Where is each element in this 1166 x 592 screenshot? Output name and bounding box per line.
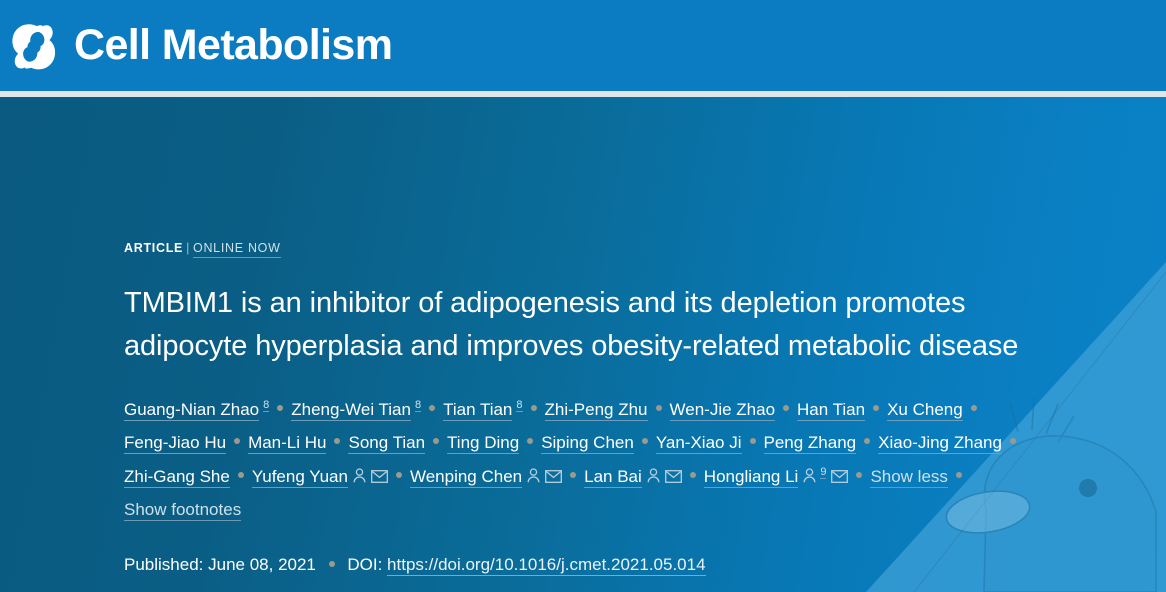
doi-label: DOI:	[347, 555, 382, 574]
bullet-separator	[783, 405, 789, 411]
article-header-content: ARTICLE|ONLINE NOW TMBIM1 is an inhibito…	[124, 242, 1084, 576]
author-link[interactable]: Zheng-Wei Tian	[291, 400, 411, 421]
envelope-icon[interactable]	[831, 470, 848, 483]
bullet-separator	[238, 472, 244, 478]
bullet-separator	[642, 438, 648, 444]
published-date: June 08, 2021	[208, 555, 316, 574]
bullet-separator	[429, 405, 435, 411]
publication-line: Published: June 08, 2021 DOI: https://do…	[124, 554, 1084, 576]
article-hero-page: Cell Metabolism	[0, 0, 1166, 592]
bullet-separator	[277, 405, 283, 411]
author-affiliation-marker[interactable]: 8	[415, 399, 421, 412]
author-link[interactable]: Tian Tian	[443, 400, 512, 421]
envelope-icon[interactable]	[545, 470, 562, 483]
author-link[interactable]: Yan-Xiao Ji	[656, 433, 742, 454]
bullet-separator	[956, 472, 962, 478]
person-icon[interactable]	[353, 468, 366, 483]
bullet-separator	[750, 438, 756, 444]
author-link[interactable]: Han Tian	[797, 400, 865, 421]
person-icon[interactable]	[803, 468, 816, 483]
journal-title[interactable]: Cell Metabolism	[74, 24, 392, 67]
author-link[interactable]: Xiao-Jing Zhang	[878, 433, 1002, 454]
bullet-separator	[873, 405, 879, 411]
bullet-separator	[234, 438, 240, 444]
author-link[interactable]: Zhi-Peng Zhu	[545, 400, 648, 421]
bullet-separator	[656, 405, 662, 411]
person-icon[interactable]	[647, 468, 660, 483]
author-link[interactable]: Feng-Jiao Hu	[124, 433, 226, 454]
journal-masthead: Cell Metabolism	[0, 0, 1166, 91]
author-link[interactable]: Zhi-Gang She	[124, 467, 230, 488]
author-link[interactable]: Peng Zhang	[764, 433, 857, 454]
envelope-icon[interactable]	[371, 470, 388, 483]
author-link[interactable]: Lan Bai	[584, 467, 642, 488]
kicker: ARTICLE|ONLINE NOW	[124, 242, 1084, 255]
show-less-link[interactable]: Show less	[870, 467, 947, 488]
kicker-separator: |	[186, 241, 190, 255]
author-link[interactable]: Wen-Jie Zhao	[670, 400, 776, 421]
author-link[interactable]: Siping Chen	[541, 433, 634, 454]
bullet-separator	[856, 472, 862, 478]
author-link[interactable]: Song Tian	[348, 433, 425, 454]
kicker-status-link[interactable]: ONLINE NOW	[193, 241, 281, 258]
author-link[interactable]: Hongliang Li	[704, 467, 799, 488]
person-icon[interactable]	[527, 468, 540, 483]
cell-press-infinity-logo-icon[interactable]	[8, 21, 60, 73]
bullet-separator	[396, 472, 402, 478]
hero-banner: ARTICLE|ONLINE NOW TMBIM1 is an inhibito…	[0, 97, 1166, 592]
author-affiliation-marker[interactable]: 9	[820, 466, 826, 479]
published-label: Published:	[124, 555, 203, 574]
author-link[interactable]: Man-Li Hu	[248, 433, 326, 454]
bullet-separator	[570, 472, 576, 478]
show-footnotes-link[interactable]: Show footnotes	[124, 500, 241, 521]
bullet-separator	[690, 472, 696, 478]
envelope-icon[interactable]	[665, 470, 682, 483]
author-affiliation-marker[interactable]: 8	[263, 399, 269, 412]
bullet-separator	[433, 438, 439, 444]
bullet-separator	[527, 438, 533, 444]
author-link[interactable]: Ting Ding	[447, 433, 519, 454]
doi-link[interactable]: https://doi.org/10.1016/j.cmet.2021.05.0…	[387, 555, 706, 576]
author-link[interactable]: Guang-Nian Zhao	[124, 400, 259, 421]
author-link[interactable]: Wenping Chen	[410, 467, 522, 488]
bullet-separator	[864, 438, 870, 444]
bullet-separator	[531, 405, 537, 411]
bullet-separator	[971, 405, 977, 411]
page-title: TMBIM1 is an inhibitor of adipogenesis a…	[124, 282, 1064, 368]
kicker-article-type: ARTICLE	[124, 241, 183, 255]
author-list: Guang-Nian Zhao8Zheng-Wei Tian8Tian Tian…	[124, 393, 1084, 527]
bullet-separator	[334, 438, 340, 444]
author-affiliation-marker[interactable]: 8	[516, 399, 522, 412]
author-link[interactable]: Yufeng Yuan	[252, 467, 348, 488]
masthead-divider	[0, 91, 1166, 97]
author-link[interactable]: Xu Cheng	[887, 400, 963, 421]
bullet-separator	[1010, 438, 1016, 444]
bullet-separator	[329, 561, 335, 567]
